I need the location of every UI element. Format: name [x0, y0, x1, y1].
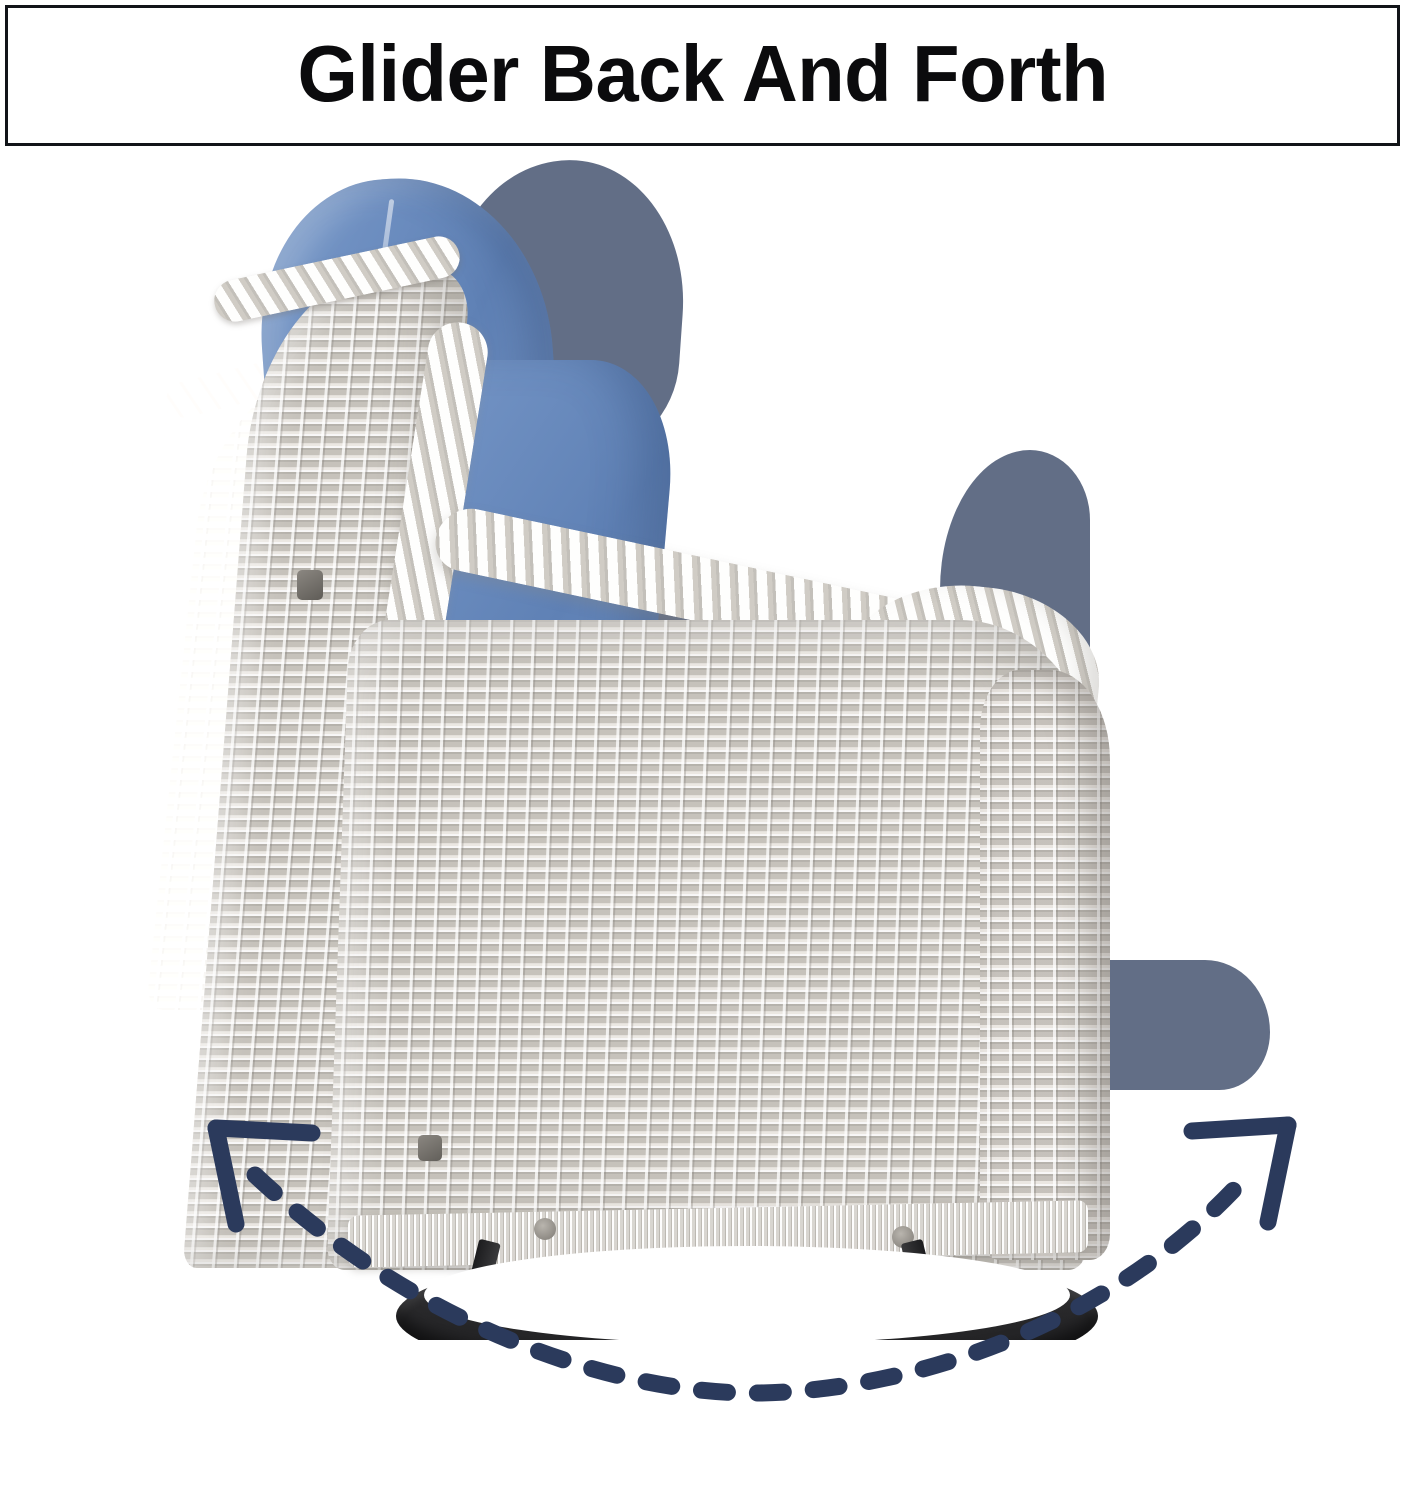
product-feature-card: Glider Back And Forth [0, 0, 1407, 1500]
back-panel-hardware [297, 570, 323, 600]
rail-screw-left [534, 1218, 556, 1240]
page-title: Glider Back And Forth [297, 36, 1107, 112]
title-banner: Glider Back And Forth [5, 5, 1400, 146]
product-image [0, 150, 1407, 1340]
chair-right-edge [980, 670, 1110, 1260]
swivel-base-ring-inner [424, 1246, 1070, 1340]
caption-block: Enjoy your leisure time and enjoy a rela… [0, 1338, 1407, 1500]
back-panel-hardware-lower [418, 1135, 442, 1161]
